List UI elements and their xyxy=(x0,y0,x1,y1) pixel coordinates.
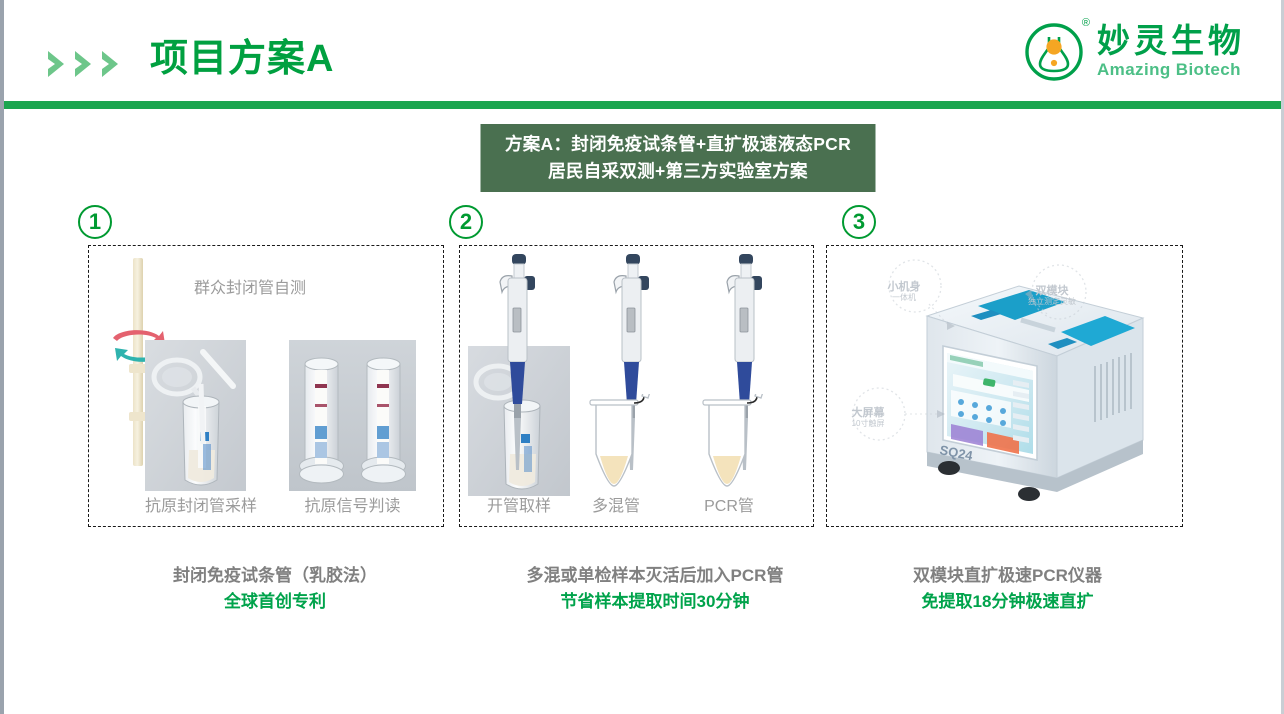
registered-trademark-icon: ® xyxy=(1082,17,1090,29)
banner-line-1: 方案A：封闭免疫试条管+直扩极速液态PCR xyxy=(505,131,851,158)
callout-subtitle: 一体机 xyxy=(877,292,931,303)
self-test-label: 群众封闭管自测 xyxy=(194,274,306,298)
banner-line-2: 居民自采双测+第三方实验室方案 xyxy=(548,158,808,185)
footer-line-2: 节省样本提取时间30分钟 xyxy=(460,589,850,615)
scheme-banner: 方案A：封闭免疫试条管+直扩极速液态PCR 居民自采双测+第三方实验室方案 xyxy=(481,124,876,192)
step-number-badge: 3 xyxy=(842,205,876,239)
image-caption: 开管取样 xyxy=(468,492,570,516)
footer-line-1: 封闭免疫试条管（乳胶法） xyxy=(80,563,470,589)
image-caption: 抗原信号判读 xyxy=(289,492,416,516)
logo-name-en: Amazing Biotech xyxy=(1097,61,1245,78)
chevron-right-icon xyxy=(46,49,70,79)
step-2: 2 xyxy=(437,205,824,527)
footer-line-1: 双模块直扩极速PCR仪器 xyxy=(830,563,1185,589)
step-1-panel: 群众封闭管自测 xyxy=(88,245,444,527)
step-2-footer: 多混或单检样本灭活后加入PCR管 节省样本提取时间30分钟 xyxy=(460,563,850,615)
logo-name-cn: 妙灵生物 xyxy=(1097,24,1245,57)
footer-line-2: 全球首创专利 xyxy=(80,589,470,615)
chevron-group xyxy=(46,47,132,81)
callout-subtitle: 10寸触屏 xyxy=(841,418,895,429)
pcr-tube-illustration xyxy=(691,394,767,500)
footer-line-1: 多混或单检样本灭活后加入PCR管 xyxy=(460,563,850,589)
chevron-right-icon xyxy=(100,49,124,79)
company-logo: ® 妙灵生物 Amazing Biotech xyxy=(1023,16,1245,86)
footer-captions: 封闭免疫试条管（乳胶法） 全球首创专利 多混或单检样本灭活后加入PCR管 节省样… xyxy=(0,563,1284,643)
step-3: 3 xyxy=(830,205,1205,527)
logo-text: 妙灵生物 Amazing Biotech xyxy=(1097,24,1245,78)
pipette-icon xyxy=(486,252,548,502)
slide-canvas: 项目方案A ® 妙灵生物 Amazing Biotech 方案A：封闭免疫试条管… xyxy=(0,0,1284,714)
image-caption: 多混管 xyxy=(578,492,654,516)
footer-line-2: 免提取18分钟极速直扩 xyxy=(830,589,1185,615)
step-number-badge: 1 xyxy=(78,205,112,239)
page-title: 项目方案A xyxy=(150,34,334,84)
antigen-sealed-tube-sampling-photo xyxy=(145,340,246,491)
slide-header: 项目方案A ® 妙灵生物 Amazing Biotech xyxy=(4,0,1281,101)
callout-subtitle: 独立测定灵敏 xyxy=(1013,296,1091,307)
step-3-footer: 双模块直扩极速PCR仪器 免提取18分钟极速直扩 xyxy=(830,563,1185,615)
flask-droplet-circle-icon: ® xyxy=(1023,19,1087,83)
step-number-badge: 2 xyxy=(449,205,483,239)
step-1: 1 群众封闭管自测 xyxy=(66,205,453,527)
multi-mix-tube-illustration xyxy=(578,394,654,500)
image-caption: 抗原封闭管采样 xyxy=(145,492,246,516)
header-divider xyxy=(4,101,1281,109)
image-caption: PCR管 xyxy=(691,492,767,516)
step-2-panel: 开管取样 多混管 PCR管 xyxy=(459,245,814,527)
chevron-right-icon xyxy=(73,49,97,79)
step-3-panel: SQ24 xyxy=(826,245,1183,527)
step-1-footer: 封闭免疫试条管（乳胶法） 全球首创专利 xyxy=(80,563,470,615)
antigen-signal-reading-photo xyxy=(289,340,416,491)
